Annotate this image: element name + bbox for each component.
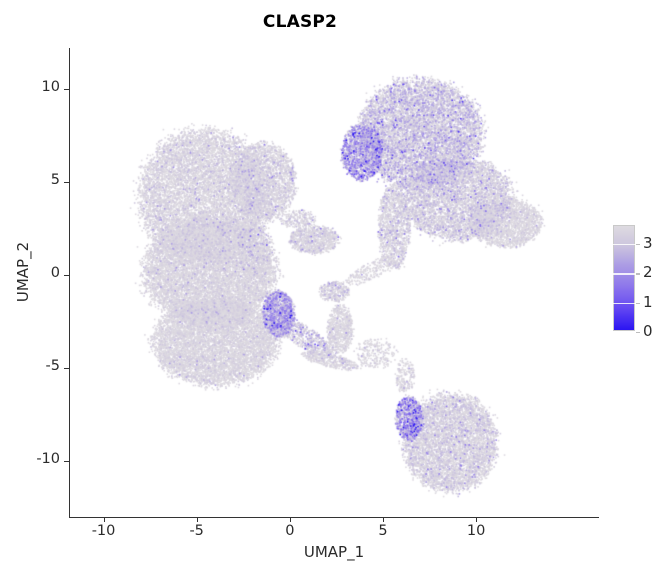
y-tick-mark bbox=[64, 461, 69, 462]
colorbar-gradient bbox=[614, 226, 634, 330]
y-tick-label: 10 bbox=[20, 79, 60, 95]
colorbar-tick-outer bbox=[636, 244, 640, 245]
y-axis-line bbox=[69, 48, 70, 518]
colorbar-tick bbox=[613, 332, 637, 333]
y-axis-title: UMAP_2 bbox=[14, 172, 32, 372]
y-tick-mark bbox=[64, 275, 69, 276]
page-title: CLASP2 bbox=[0, 12, 600, 32]
expression-colorbar-legend: 0123 bbox=[613, 225, 635, 331]
umap-scatter-points bbox=[70, 48, 560, 517]
colorbar-tick bbox=[613, 303, 637, 304]
colorbar-tick-outer bbox=[636, 332, 640, 333]
colorbar-tick-outer bbox=[636, 303, 640, 304]
y-tick-label: -10 bbox=[20, 451, 60, 467]
x-tick-mark bbox=[197, 517, 198, 522]
x-tick-mark bbox=[290, 517, 291, 522]
colorbar-tick-label: 3 bbox=[643, 234, 653, 252]
x-tick-label: 10 bbox=[446, 523, 506, 539]
x-tick-label: -5 bbox=[167, 523, 227, 539]
feature-plot-figure: CLASP2 -10-50510 -10-50510 UMAP_1 UMAP_2… bbox=[0, 0, 672, 576]
colorbar-tick-label: 2 bbox=[643, 263, 653, 281]
colorbar-tick bbox=[613, 273, 637, 274]
x-axis-line bbox=[69, 517, 599, 518]
y-tick-mark bbox=[64, 368, 69, 369]
x-tick-label: 5 bbox=[353, 523, 413, 539]
y-tick-mark bbox=[64, 182, 69, 183]
y-tick-mark bbox=[64, 89, 69, 90]
scatter-plot-panel bbox=[70, 48, 560, 517]
colorbar-tick-label: 0 bbox=[643, 322, 653, 340]
x-tick-label: -10 bbox=[74, 523, 134, 539]
x-tick-mark bbox=[383, 517, 384, 522]
x-tick-mark bbox=[476, 517, 477, 522]
colorbar-tick-outer bbox=[636, 273, 640, 274]
x-axis-title: UMAP_1 bbox=[69, 543, 599, 561]
colorbar-tick-label: 1 bbox=[643, 293, 653, 311]
colorbar-bar bbox=[613, 225, 635, 331]
x-tick-mark bbox=[104, 517, 105, 522]
colorbar-tick bbox=[613, 244, 637, 245]
x-tick-label: 0 bbox=[260, 523, 320, 539]
